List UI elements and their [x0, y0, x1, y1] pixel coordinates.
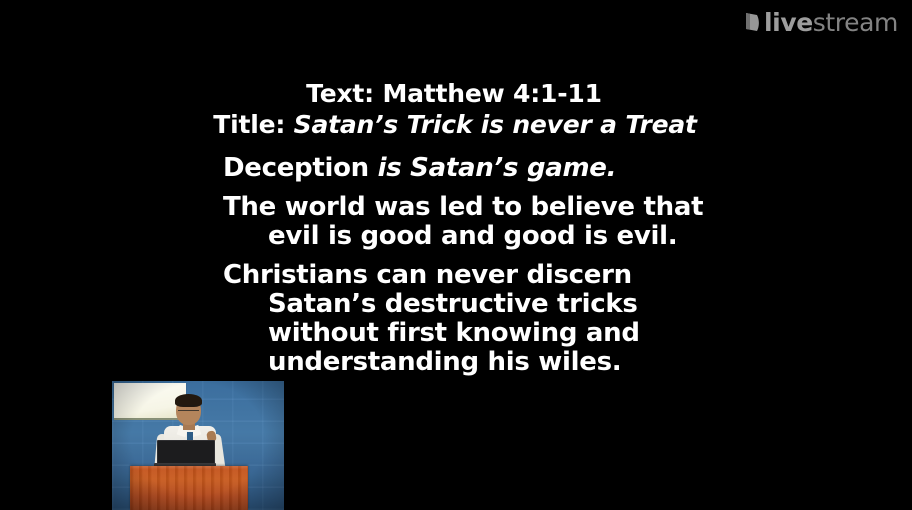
body-paragraph-3: Christians can never discernSatan’s dest… [223, 261, 912, 377]
paragraph-3-lead: Christians can never discern [223, 260, 632, 290]
pip-projection-screen-rail [114, 418, 186, 420]
title-value: Satan’s Trick is never a Treat [294, 110, 697, 139]
paragraph-1-emphasis: is Satan’s game. [378, 153, 617, 183]
slide-body-block: Deception is Satan’s game. The world was… [0, 154, 912, 377]
body-paragraph-1: Deception is Satan’s game. [223, 154, 912, 183]
scripture-label: Text: [306, 79, 382, 108]
paragraph-3-continuation: Satan’s destructive tricks [223, 290, 912, 319]
livestream-flag-mark-icon [744, 11, 761, 35]
speaker-video-inset[interactable] [112, 381, 284, 510]
pip-podium [130, 466, 248, 510]
livestream-slide-frame: livestream Text: Matthew 4:1-11 Title: S… [0, 0, 912, 510]
livestream-watermark: livestream [744, 10, 898, 35]
scripture-reference-line: Text: Matthew 4:1-11 [0, 78, 912, 109]
paragraph-1-lead: Deception [223, 153, 378, 183]
wordmark-stream: stream [813, 8, 898, 37]
paragraph-2-lead: The world was led to believe that [223, 192, 703, 222]
paragraph-2-continuation: evil is good and good is evil. [223, 222, 912, 251]
slide-text-content: Text: Matthew 4:1-11 Title: Satan’s Tric… [0, 78, 912, 387]
title-label: Title: [213, 110, 293, 139]
body-paragraph-2: The world was led to believe thatevil is… [223, 193, 912, 251]
scripture-reference: Matthew 4:1-11 [382, 79, 601, 108]
pip-laptop-screen [157, 440, 215, 464]
sermon-title-line: Title: Satan’s Trick is never a Treat [0, 109, 912, 140]
pip-podium-grain [130, 466, 248, 510]
wordmark-live: live [764, 8, 813, 37]
livestream-wordmark: livestream [764, 10, 898, 35]
paragraph-3-continuation-3: understanding his wiles. [223, 348, 912, 377]
pip-speaker-glasses [178, 405, 199, 411]
paragraph-3-continuation-2: without first knowing and [223, 319, 912, 348]
